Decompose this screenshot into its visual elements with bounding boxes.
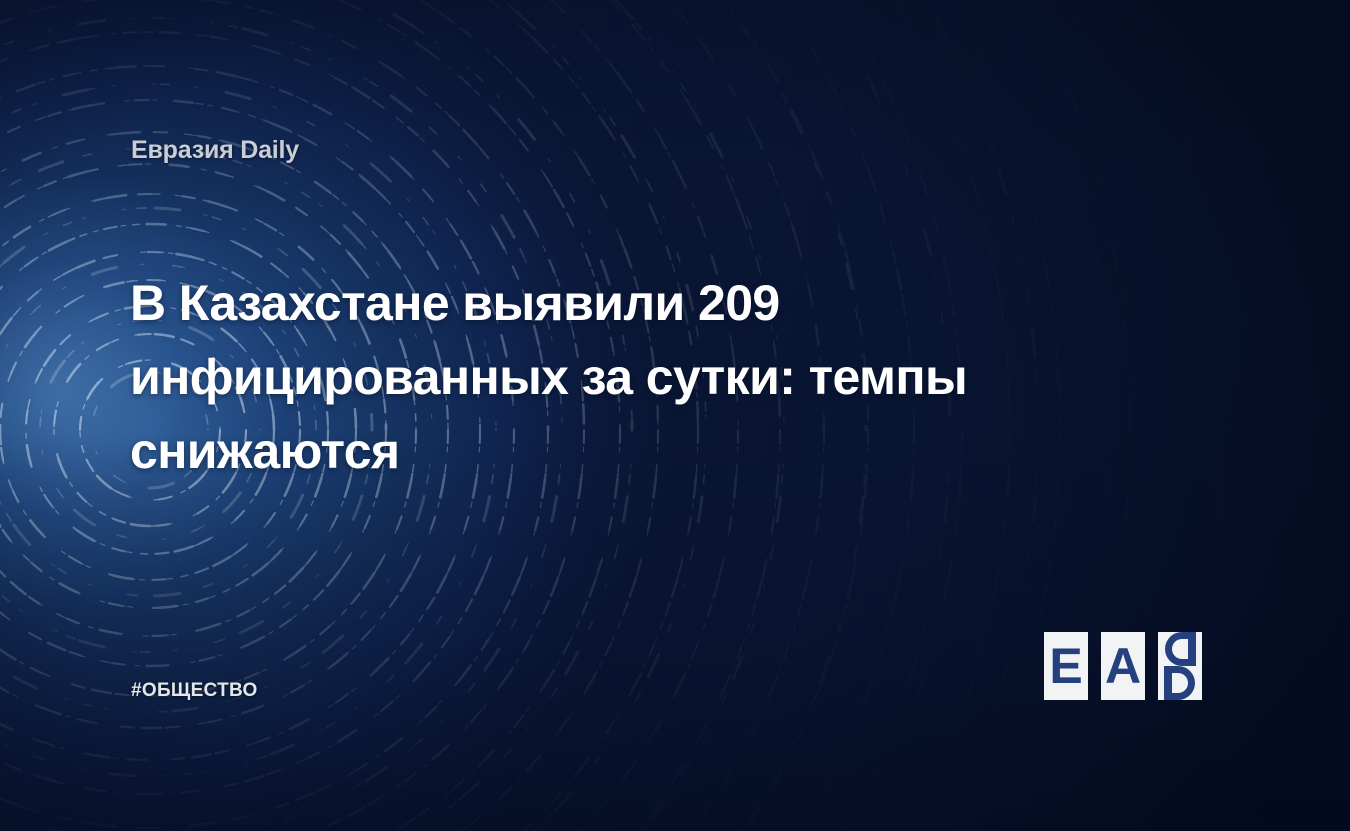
logo-letter-a: A [1105,641,1141,691]
headline-line-1: В Казахстане выявили 209 [130,266,1090,340]
news-cover-card: Евразия Daily В Казахстане выявили 209 и… [0,0,1350,831]
headline-line-3: снижаются [130,414,1090,488]
logo-letter-e: E [1049,641,1082,691]
logo-tile-e: E [1044,632,1088,700]
logo-tile-d-monogram [1158,632,1202,700]
logo-tile-a: A [1101,632,1145,700]
headline-line-2: инфицированных за сутки: темпы [130,340,1090,414]
eadaily-logo[interactable]: E A [1044,632,1220,700]
category-tag[interactable]: #ОБЩЕСТВО [131,680,258,702]
page-title: В Казахстане выявили 209 инфицированных … [130,266,1090,488]
brand-name: Евразия Daily [131,136,299,165]
